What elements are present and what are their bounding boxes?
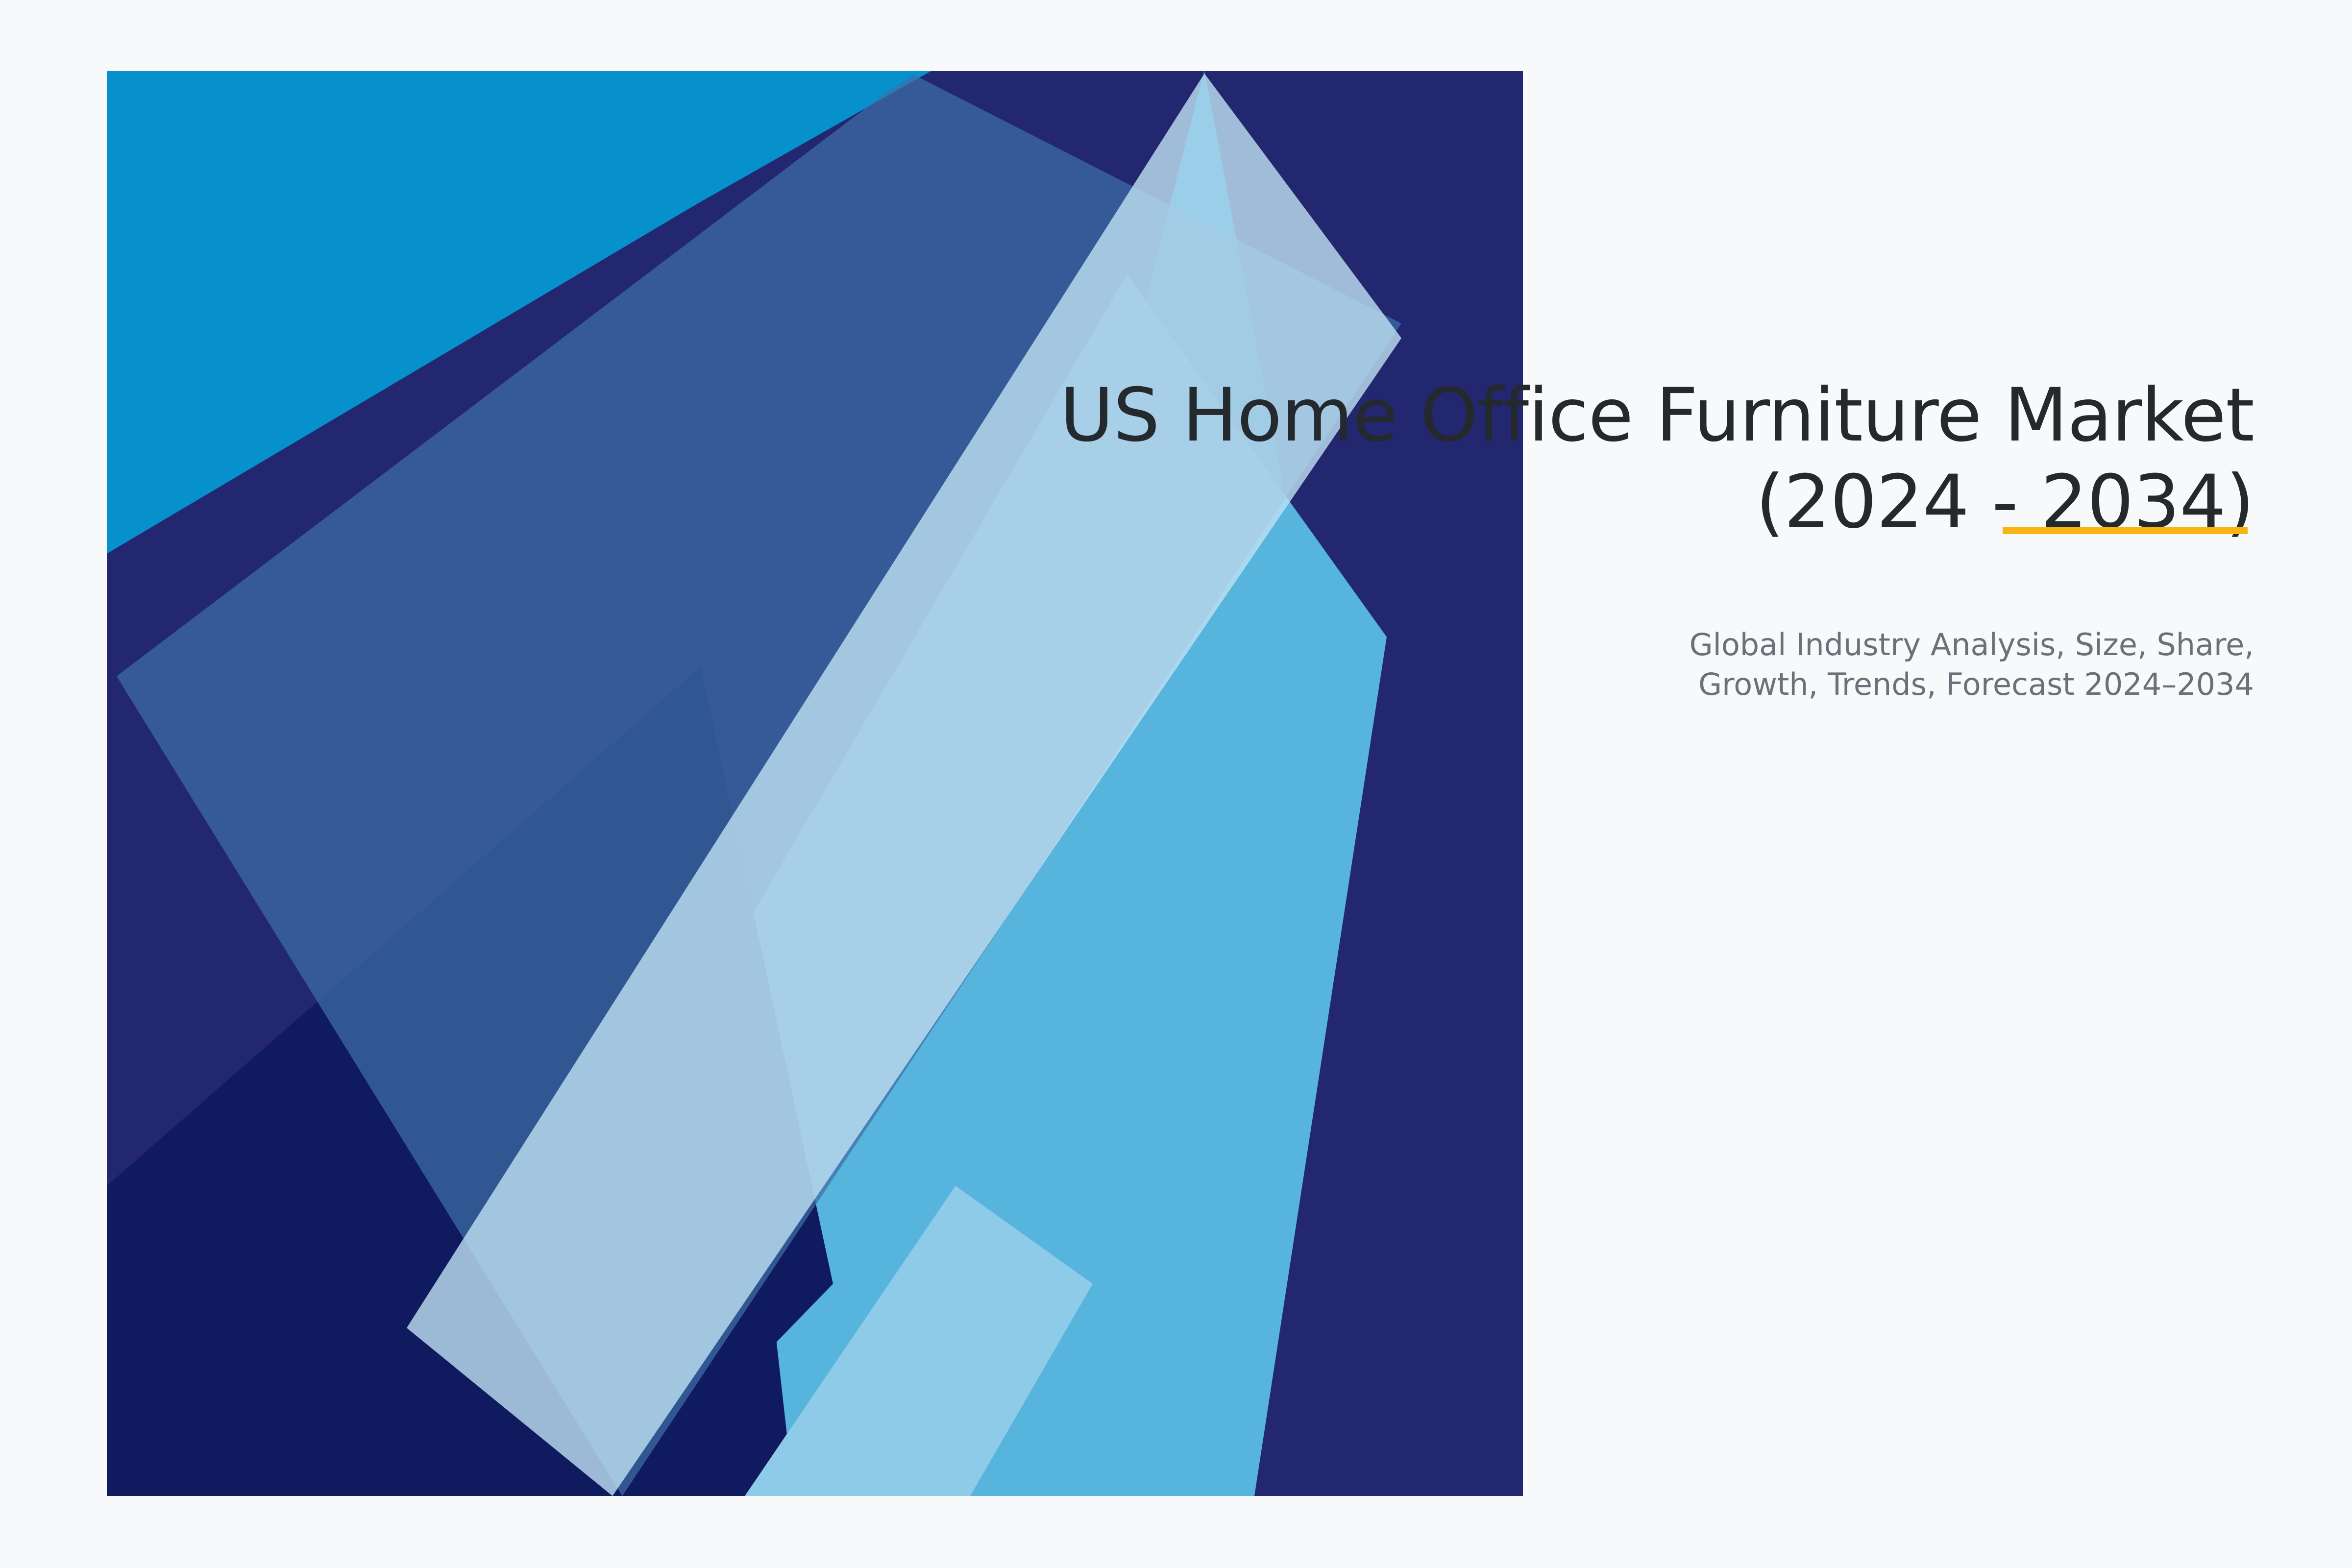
cyan-corner-highlight-shape (107, 71, 921, 554)
cover-slide: US Home Office Furniture Market (2024 - … (0, 0, 2352, 1568)
page-title-line-1: US Home Office Furniture Market (1060, 373, 2254, 458)
slate-blue-overlay-shape (117, 73, 1401, 1496)
pale-blue-overlay-shape (407, 73, 1401, 1496)
pale-blue-sliver-shape (745, 1186, 1093, 1496)
cyan-field-shape (107, 71, 1523, 1496)
navy-upper-triangle-shape (107, 71, 1523, 1496)
page-subtitle: Global Industry Analysis, Size, Share, G… (931, 625, 2254, 704)
deep-navy-arm-shape (314, 666, 794, 1496)
title-accent-underline (2003, 527, 2248, 534)
page-title: US Home Office Furniture Market (2024 - … (931, 372, 2254, 546)
deep-navy-wedge-shape (107, 666, 833, 1496)
abstract-geometric-artwork (0, 0, 2352, 1568)
title-text-block: US Home Office Furniture Market (2024 - … (931, 372, 2254, 704)
navy-top-right-triangle-shape (921, 73, 1523, 338)
